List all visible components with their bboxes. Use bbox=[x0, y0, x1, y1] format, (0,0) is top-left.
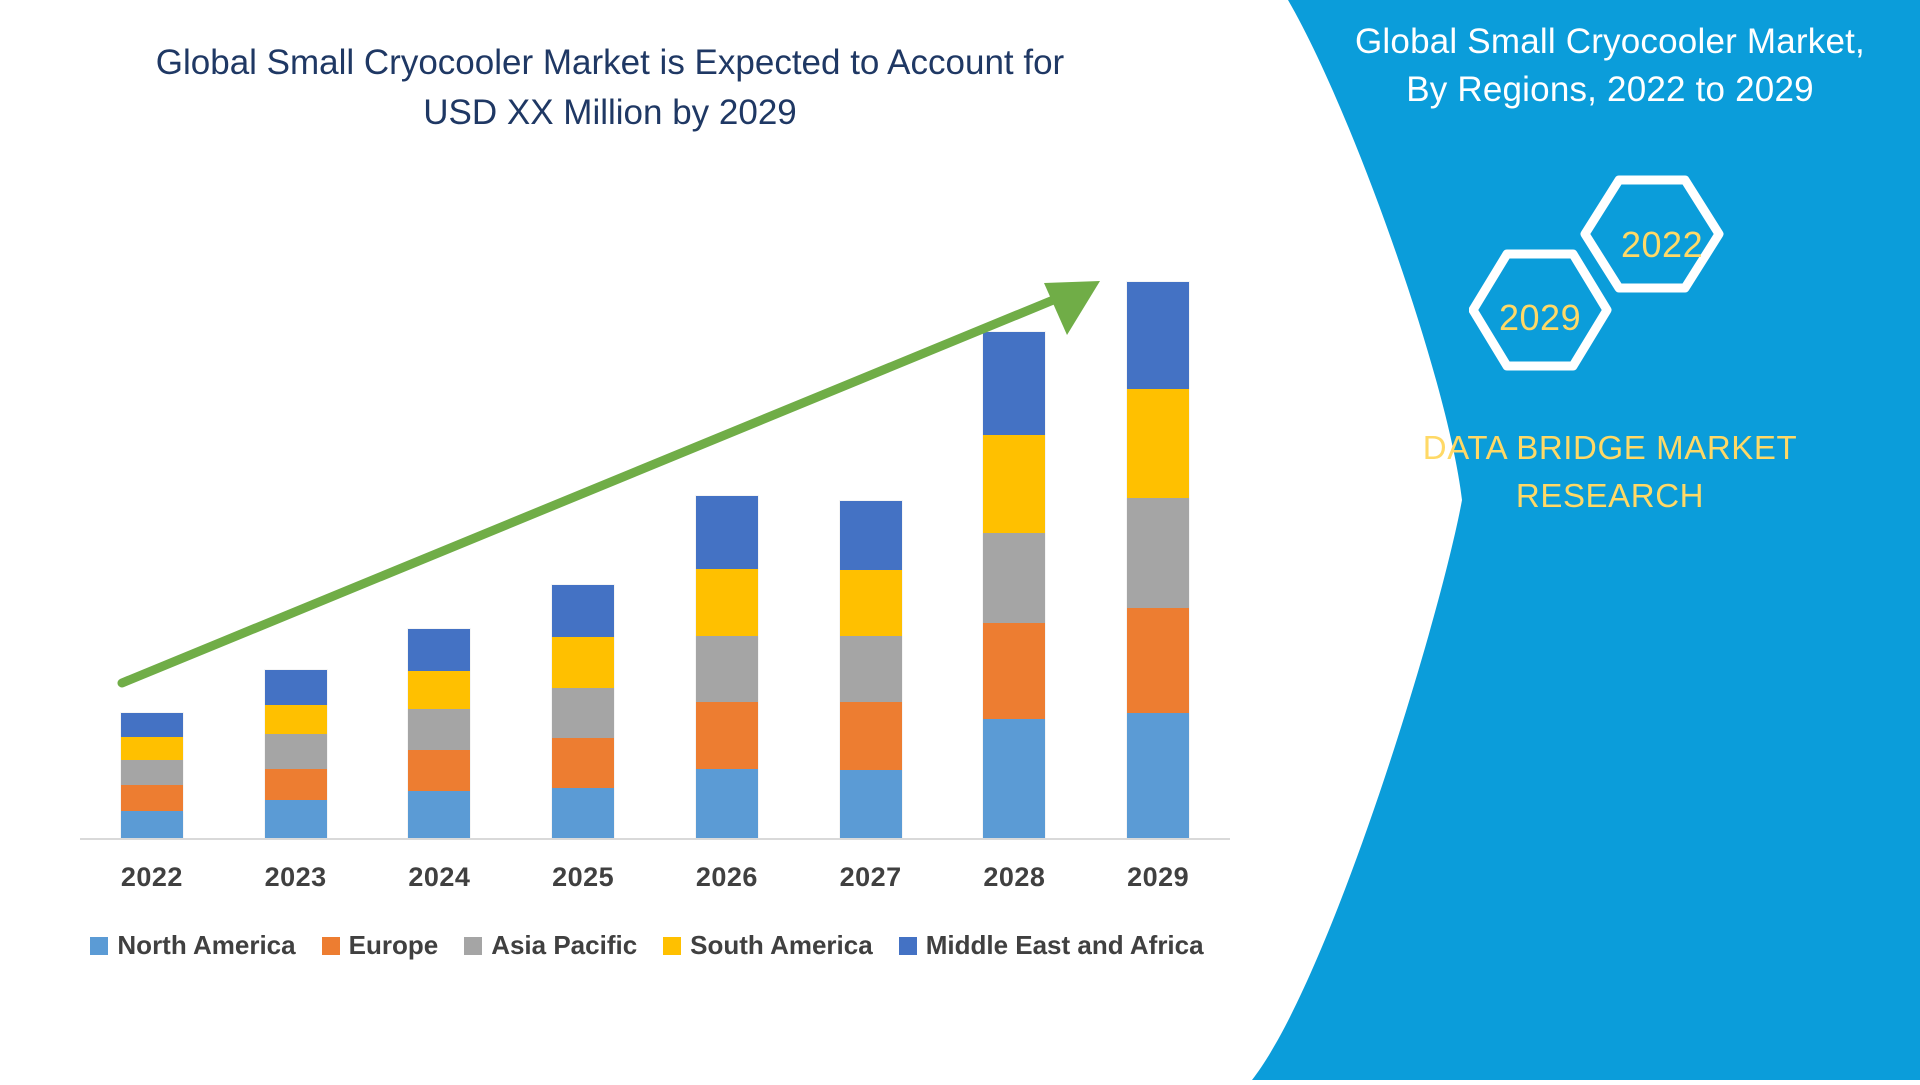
bar-segment-south-america[interactable] bbox=[265, 705, 327, 734]
bar-segment-north-america[interactable] bbox=[696, 769, 758, 838]
bar-segment-asia-pacific[interactable] bbox=[696, 636, 758, 702]
bar-2023[interactable] bbox=[265, 670, 327, 838]
legend-item-middle-east-and-africa[interactable]: Middle East and Africa bbox=[899, 930, 1204, 961]
bar-segment-north-america[interactable] bbox=[983, 719, 1045, 838]
legend-item-europe[interactable]: Europe bbox=[322, 930, 439, 961]
x-axis-label-2029: 2029 bbox=[1098, 862, 1218, 893]
bar-segment-middle-east-and-africa[interactable] bbox=[1127, 282, 1189, 389]
bar-segment-asia-pacific[interactable] bbox=[1127, 498, 1189, 608]
x-axis-label-2027: 2027 bbox=[811, 862, 931, 893]
brand-name: DATA BRIDGE MARKET RESEARCH bbox=[1350, 424, 1870, 520]
bar-segment-europe[interactable] bbox=[1127, 608, 1189, 713]
bar-segment-asia-pacific[interactable] bbox=[265, 734, 327, 769]
bar-segment-north-america[interactable] bbox=[265, 800, 327, 838]
bar-segment-middle-east-and-africa[interactable] bbox=[552, 585, 614, 638]
bar-segment-europe[interactable] bbox=[408, 750, 470, 791]
x-axis-labels: 20222023202420252026202720282029 bbox=[80, 862, 1230, 902]
chart-title-line-1: Global Small Cryocooler Market is Expect… bbox=[60, 38, 1160, 88]
panel-title-line-2: By Regions, 2022 to 2029 bbox=[1330, 66, 1890, 114]
hexagon-label-2022: 2022 bbox=[1621, 224, 1703, 266]
bar-segment-south-america[interactable] bbox=[1127, 389, 1189, 497]
x-axis-line bbox=[80, 838, 1230, 840]
bar-segment-north-america[interactable] bbox=[552, 788, 614, 838]
chart-title-line-2: USD XX Million by 2029 bbox=[60, 88, 1160, 138]
x-axis-label-2026: 2026 bbox=[667, 862, 787, 893]
x-axis-label-2025: 2025 bbox=[523, 862, 643, 893]
bar-segment-north-america[interactable] bbox=[840, 770, 902, 838]
legend-item-south-america[interactable]: South America bbox=[663, 930, 873, 961]
x-axis-label-2024: 2024 bbox=[379, 862, 499, 893]
bar-2027[interactable] bbox=[840, 501, 902, 838]
legend-swatch-icon bbox=[464, 937, 482, 955]
legend-swatch-icon bbox=[90, 937, 108, 955]
bar-2026[interactable] bbox=[696, 496, 758, 838]
bar-segment-asia-pacific[interactable] bbox=[408, 709, 470, 750]
legend-label: Middle East and Africa bbox=[926, 930, 1204, 961]
x-axis-label-2028: 2028 bbox=[954, 862, 1074, 893]
bar-segment-middle-east-and-africa[interactable] bbox=[983, 332, 1045, 435]
bar-2024[interactable] bbox=[408, 629, 470, 838]
legend-label: South America bbox=[690, 930, 873, 961]
bar-segment-middle-east-and-africa[interactable] bbox=[265, 670, 327, 705]
bar-segment-south-america[interactable] bbox=[983, 435, 1045, 533]
legend-label: North America bbox=[117, 930, 295, 961]
bar-segment-europe[interactable] bbox=[983, 623, 1045, 720]
bar-segment-asia-pacific[interactable] bbox=[121, 760, 183, 785]
bar-segment-asia-pacific[interactable] bbox=[983, 533, 1045, 622]
chart-title: Global Small Cryocooler Market is Expect… bbox=[60, 38, 1160, 138]
panel-title-line-1: Global Small Cryocooler Market, bbox=[1330, 18, 1890, 66]
slide-root: Global Small Cryocooler Market is Expect… bbox=[0, 0, 1920, 1080]
bar-segment-middle-east-and-africa[interactable] bbox=[121, 713, 183, 737]
legend-swatch-icon bbox=[663, 937, 681, 955]
bar-2025[interactable] bbox=[552, 585, 614, 838]
bar-segment-south-america[interactable] bbox=[840, 570, 902, 636]
x-axis-label-2022: 2022 bbox=[92, 862, 212, 893]
bar-segment-south-america[interactable] bbox=[696, 569, 758, 636]
bar-segment-south-america[interactable] bbox=[121, 737, 183, 760]
bar-segment-south-america[interactable] bbox=[408, 671, 470, 709]
bar-segment-europe[interactable] bbox=[840, 702, 902, 769]
bar-2028[interactable] bbox=[983, 332, 1045, 838]
brand-line-1: DATA BRIDGE MARKET bbox=[1350, 424, 1870, 472]
bar-segment-middle-east-and-africa[interactable] bbox=[696, 496, 758, 569]
legend-swatch-icon bbox=[322, 937, 340, 955]
x-axis-label-2023: 2023 bbox=[236, 862, 356, 893]
bar-segment-asia-pacific[interactable] bbox=[552, 688, 614, 738]
bar-segment-middle-east-and-africa[interactable] bbox=[840, 501, 902, 570]
legend-item-asia-pacific[interactable]: Asia Pacific bbox=[464, 930, 637, 961]
panel-title: Global Small Cryocooler Market, By Regio… bbox=[1330, 18, 1890, 114]
legend-label: Asia Pacific bbox=[491, 930, 637, 961]
hexagon-label-2029: 2029 bbox=[1499, 297, 1581, 339]
legend-swatch-icon bbox=[899, 937, 917, 955]
bar-segment-europe[interactable] bbox=[121, 785, 183, 810]
bar-segment-north-america[interactable] bbox=[408, 791, 470, 838]
bar-segment-north-america[interactable] bbox=[121, 811, 183, 838]
bar-segment-asia-pacific[interactable] bbox=[840, 636, 902, 702]
bar-2029[interactable] bbox=[1127, 282, 1189, 838]
chart-panel: Global Small Cryocooler Market is Expect… bbox=[0, 0, 1260, 1080]
right-panel-content: Global Small Cryocooler Market, By Regio… bbox=[1300, 0, 1920, 1080]
chart-legend: North AmericaEuropeAsia PacificSouth Ame… bbox=[80, 930, 1240, 961]
bar-group bbox=[80, 180, 1230, 838]
bar-segment-europe[interactable] bbox=[265, 769, 327, 801]
legend-label: Europe bbox=[349, 930, 439, 961]
bar-segment-europe[interactable] bbox=[552, 738, 614, 787]
hexagon-logo: 2022 2029 bbox=[1469, 162, 1779, 382]
bar-segment-north-america[interactable] bbox=[1127, 713, 1189, 838]
bar-segment-south-america[interactable] bbox=[552, 637, 614, 687]
plot-area bbox=[80, 180, 1230, 840]
bar-2022[interactable] bbox=[121, 713, 183, 838]
bar-segment-middle-east-and-africa[interactable] bbox=[408, 629, 470, 671]
brand-line-2: RESEARCH bbox=[1350, 472, 1870, 520]
bar-segment-europe[interactable] bbox=[696, 702, 758, 768]
legend-item-north-america[interactable]: North America bbox=[90, 930, 295, 961]
